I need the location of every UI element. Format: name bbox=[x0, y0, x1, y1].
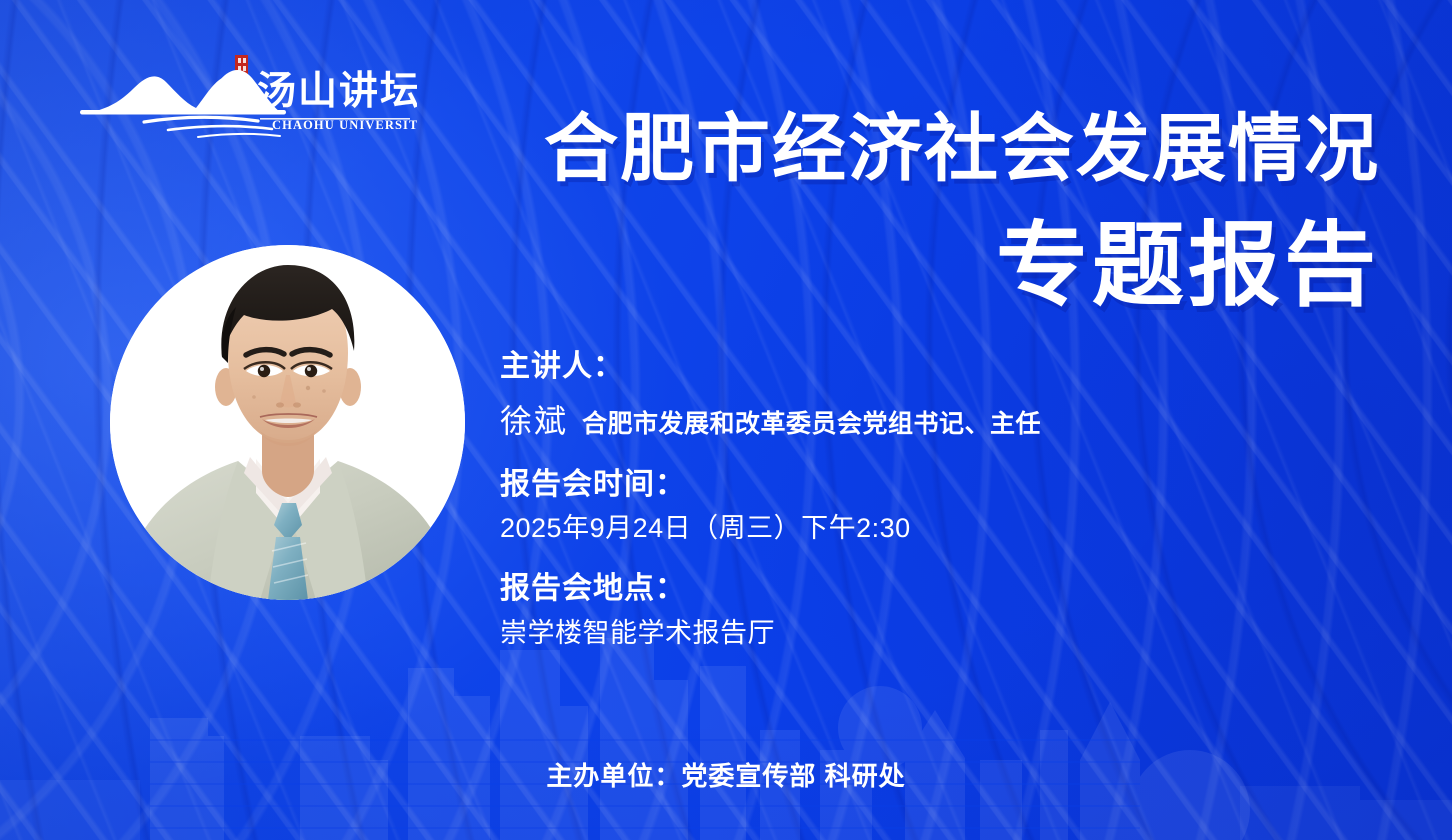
speaker-portrait-image bbox=[110, 245, 465, 600]
place-value: 崇学楼智能学术报告厅 bbox=[500, 616, 1220, 651]
place-label: 报告会地点： bbox=[500, 570, 1220, 608]
poster-canvas: 汤山讲坛 CHAOHU UNIVERSITY 合肥市经济社会发展情况 专题报告 bbox=[0, 0, 1452, 840]
speaker-row: 徐斌 合肥市发展和改革委员会党组书记、主任 bbox=[500, 396, 1220, 442]
speaker-name: 徐斌 bbox=[500, 396, 568, 442]
headline: 合肥市经济社会发展情况 专题报告 bbox=[420, 108, 1380, 316]
speaker-label: 主讲人： bbox=[500, 348, 1220, 386]
organizer-footer: 主办单位：党委宣传部 科研处 bbox=[0, 756, 1452, 793]
speaker-title: 合肥市发展和改革委员会党组书记、主任 bbox=[582, 404, 1041, 440]
mountain-wave-logo-icon: 汤山讲坛 CHAOHU UNIVERSITY bbox=[72, 52, 417, 144]
speaker-section: 主讲人： 徐斌 合肥市发展和改革委员会党组书记、主任 bbox=[500, 348, 1220, 442]
place-section: 报告会地点： 崇学楼智能学术报告厅 bbox=[500, 570, 1220, 651]
headline-line-1: 合肥市经济社会发展情况 bbox=[420, 108, 1380, 191]
event-info: 主讲人： 徐斌 合肥市发展和改革委员会党组书记、主任 报告会时间： 2025年9… bbox=[500, 348, 1220, 651]
logo: 汤山讲坛 CHAOHU UNIVERSITY bbox=[72, 52, 417, 144]
time-section: 报告会时间： 2025年9月24日（周三）下午2:30 bbox=[500, 466, 1220, 547]
logo-brand-cn: 汤山讲坛 bbox=[257, 69, 417, 114]
headline-line-2: 专题报告 bbox=[420, 217, 1380, 316]
speaker-portrait bbox=[110, 245, 465, 600]
logo-brand-en: CHAOHU UNIVERSITY bbox=[272, 118, 417, 132]
time-label: 报告会时间： bbox=[500, 466, 1220, 504]
time-value: 2025年9月24日（周三）下午2:30 bbox=[500, 511, 1220, 546]
